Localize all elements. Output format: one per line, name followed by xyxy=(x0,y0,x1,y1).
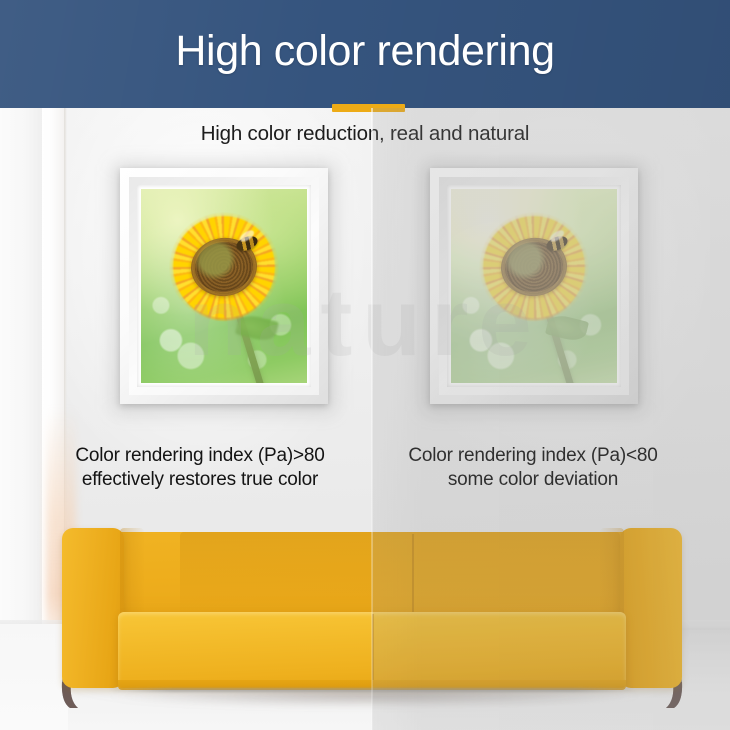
room-scene: High color reduction, real and natural n… xyxy=(0,108,730,730)
sofa-armrest-right xyxy=(620,528,682,688)
sunflower-disc-ring xyxy=(497,233,570,300)
sofa-frame-rail xyxy=(108,688,638,692)
sunflower-artwork-washed-out xyxy=(451,189,617,383)
sofa-backrest-seam xyxy=(412,534,414,622)
caption-left-line1: Color rendering index (Pa)>80 xyxy=(75,445,324,466)
promo-image: High color rendering High color reductio… xyxy=(0,0,730,730)
page-title: High color rendering xyxy=(0,0,730,108)
artwork-background xyxy=(451,189,617,383)
sunflower-head xyxy=(149,192,299,342)
wall-left-return xyxy=(0,108,42,668)
title-accent-bar xyxy=(332,104,405,112)
picture-frame-right xyxy=(430,168,638,404)
sofa-ground-shadow xyxy=(102,690,647,706)
sunflower-leaf xyxy=(545,313,589,344)
sofa-backrest-shading xyxy=(180,532,620,624)
caption-right-line2: some color deviation xyxy=(368,468,698,492)
subtitle: High color reduction, real and natural xyxy=(0,122,730,146)
caption-right-line1: Color rendering index (Pa)<80 xyxy=(408,445,657,466)
picture-frame-left xyxy=(120,168,328,404)
artwork-bokeh-haze xyxy=(451,189,617,383)
caption-left-line2: effectively restores true color xyxy=(35,468,365,492)
bee-wing xyxy=(548,228,566,244)
header-banner: High color rendering xyxy=(0,0,730,108)
sunflower-petals xyxy=(459,192,609,342)
sunflower-petals-back xyxy=(468,222,600,336)
caption-right: Color rendering index (Pa)<80 some color… xyxy=(368,444,698,493)
bee-icon xyxy=(544,233,569,253)
sofa-armrest-left xyxy=(62,528,124,688)
sunflower-head xyxy=(459,192,609,342)
caption-left: Color rendering index (Pa)>80 effectivel… xyxy=(35,444,365,493)
sunflower-disc xyxy=(497,233,570,300)
sunflower-stem xyxy=(538,289,577,383)
sunflower-artwork-accurate xyxy=(141,189,307,383)
comparison-split-line xyxy=(371,108,373,730)
